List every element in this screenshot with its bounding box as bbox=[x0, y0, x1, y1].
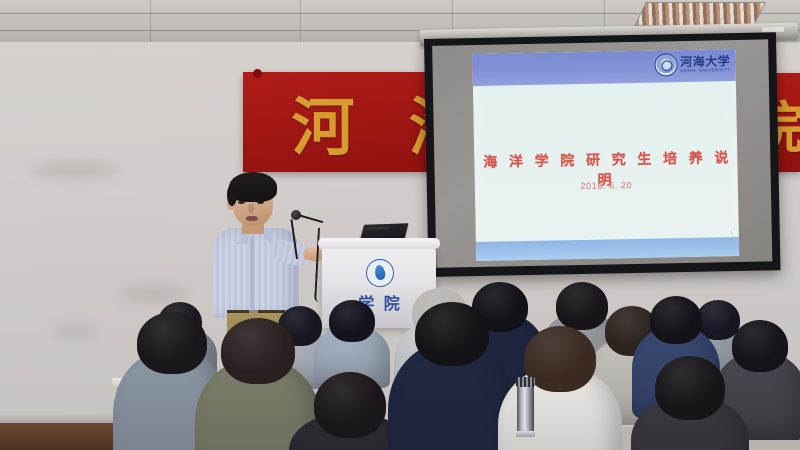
attendee-head bbox=[329, 300, 375, 342]
logo-chinese-name: 河海大学 bbox=[680, 55, 731, 68]
slide-footer-band bbox=[476, 237, 739, 261]
attendee-head bbox=[415, 302, 489, 366]
university-logo: 河海大学 HOHAI UNIVERSITY bbox=[654, 52, 731, 76]
attendee-navy-shirt bbox=[388, 302, 516, 450]
attendee-head bbox=[314, 372, 386, 438]
presenter-mouth bbox=[246, 216, 258, 221]
podium-top bbox=[318, 238, 440, 249]
attendee-head bbox=[221, 318, 295, 384]
presenter-shirt-placket bbox=[250, 236, 254, 314]
thermos-base bbox=[516, 431, 535, 437]
projection-screen: 河海大学 HOHAI UNIVERSITY 海 洋 学 院 研 究 生 培 养 … bbox=[424, 32, 781, 277]
slide-header-band: 河海大学 HOHAI UNIVERSITY bbox=[472, 49, 736, 86]
logo-english-name: HOHAI UNIVERSITY bbox=[680, 68, 730, 73]
lecture-hall-photo: 河 海 院 河海大学 HOHAI UNIVERSITY 海 洋 学 院 bbox=[0, 0, 800, 450]
microphone-icon bbox=[291, 210, 301, 220]
hohai-emblem-icon bbox=[654, 53, 677, 76]
attendee-head bbox=[655, 356, 725, 420]
presenter-hair bbox=[229, 172, 277, 202]
ceiling-light-icon bbox=[634, 2, 766, 26]
podium-emblem-icon bbox=[366, 259, 394, 287]
water-drop-icon bbox=[374, 264, 386, 281]
thermos bbox=[517, 385, 534, 433]
presentation-slide: 河海大学 HOHAI UNIVERSITY 海 洋 学 院 研 究 生 培 养 … bbox=[472, 49, 739, 261]
attendee-far-right-head bbox=[631, 356, 749, 450]
attendee-back-blue bbox=[314, 300, 390, 362]
thermos-cap bbox=[516, 377, 535, 387]
presenter-nose bbox=[248, 204, 254, 213]
screen-surface: 河海大学 HOHAI UNIVERSITY 海 洋 学 院 研 究 生 培 养 … bbox=[432, 39, 772, 267]
attendee-head bbox=[650, 296, 702, 344]
slide-page-number: 1 bbox=[730, 230, 733, 236]
